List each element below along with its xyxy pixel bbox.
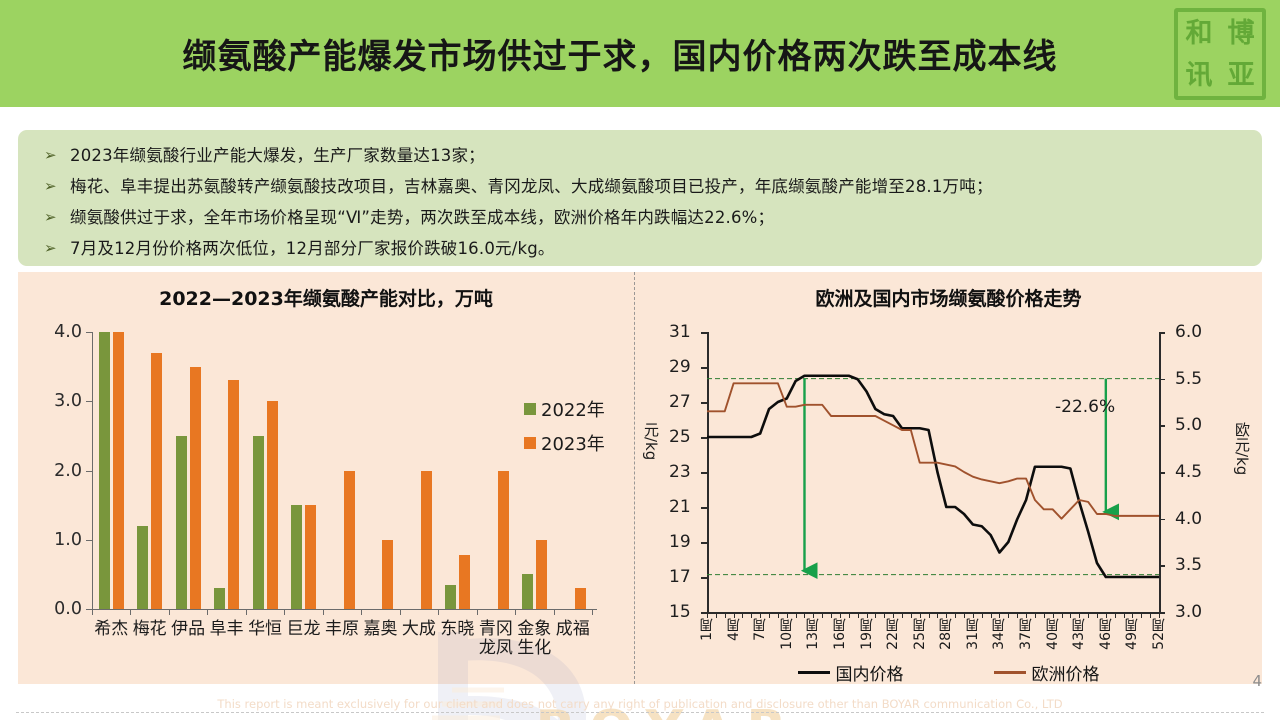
line-x-tick-mark	[1035, 613, 1036, 618]
line-right-tick-mark	[1159, 565, 1165, 567]
bar-2023	[267, 401, 278, 609]
bar-group	[361, 332, 399, 609]
bar-x-category-label: 伊品	[171, 620, 205, 639]
line-chart-plot-area	[707, 332, 1160, 613]
line-left-tick-mark	[701, 367, 707, 369]
line-left-tick-mark	[701, 437, 707, 439]
bar-2023	[305, 505, 316, 609]
line-x-tick-mark	[831, 613, 832, 618]
line-right-tick-label: 4.5	[1175, 462, 1202, 482]
bar-group	[130, 332, 168, 609]
line-x-tick-mark	[902, 613, 903, 618]
line-left-tick-label: 27	[669, 392, 691, 412]
bar-2023	[421, 471, 432, 610]
line-x-tick-label: 28周	[936, 618, 956, 650]
legend-label: 2022年	[541, 396, 605, 422]
bar-x-tick-mark	[207, 609, 208, 615]
bar-group	[438, 332, 476, 609]
bar-2022	[137, 526, 148, 609]
line-x-tick-mark	[804, 613, 805, 618]
legend-label: 2023年	[541, 430, 605, 456]
line-x-tick-mark	[725, 613, 726, 618]
bar-x-tick-mark	[400, 609, 401, 615]
bar-x-tick-mark	[92, 609, 93, 615]
bar-2023	[536, 540, 547, 609]
line-left-tick-mark	[701, 542, 707, 544]
list-item: ➢ 梅花、阜丰提出苏氨酸转产缬氨酸技改项目，吉林嘉奥、青冈龙凤、大成缬氨酸项目已…	[44, 171, 1244, 202]
line-left-tick-label: 25	[669, 427, 691, 447]
legend-line-europe	[994, 671, 1026, 674]
line-x-tick-mark	[937, 613, 938, 618]
line-x-tick-mark	[991, 613, 992, 618]
bullet-text: 7月及12月份价格两次低位，12月部分厂家报价跌破16.0元/kg。	[70, 233, 1244, 264]
line-x-tick-mark	[813, 613, 814, 618]
legend-swatch-2022	[524, 403, 536, 415]
bar-2023	[113, 332, 124, 609]
bar-2022	[522, 574, 533, 609]
list-item: ➢ 2023年缬氨酸行业产能大爆发，生产厂家数量达13家；	[44, 140, 1244, 171]
line-x-tick-mark	[716, 613, 717, 618]
line-x-tick-mark	[1079, 613, 1080, 618]
bar-x-tick-mark	[169, 609, 170, 615]
line-x-tick-mark	[796, 613, 797, 618]
line-x-tick-mark	[787, 613, 788, 618]
line-x-tick-mark	[964, 613, 965, 618]
footer-divider	[16, 712, 1264, 713]
line-x-tick-mark	[1026, 613, 1027, 618]
line-x-tick-mark	[1062, 613, 1063, 618]
line-x-tick-mark	[1044, 613, 1045, 618]
line-x-tick-mark	[707, 613, 708, 618]
line-x-tick-label: 19周	[857, 618, 877, 650]
line-right-tick-label: 6.0	[1175, 322, 1202, 342]
legend-label: 欧洲价格	[1032, 660, 1100, 685]
line-x-tick-mark	[751, 613, 752, 618]
summary-bullets-panel: ➢ 2023年缬氨酸行业产能大爆发，生产厂家数量达13家； ➢ 梅花、阜丰提出苏…	[18, 130, 1262, 266]
bar-group	[92, 332, 130, 609]
bar-2023	[575, 588, 586, 609]
line-x-tick-mark	[1017, 613, 1018, 618]
line-left-tick-mark	[701, 402, 707, 404]
list-item: ➢ 缬氨酸供过于求，全年市场价格呈现“Ⅵ”走势，两次跌至成本线，欧洲价格年内跌幅…	[44, 202, 1244, 233]
bar-2022	[214, 588, 225, 609]
bar-2023	[228, 380, 239, 609]
line-x-tick-mark	[1150, 613, 1151, 618]
chart-title: 欧洲及国内市场缬氨酸价格走势	[635, 284, 1262, 311]
right-axis-label: 欧元/kg	[1232, 422, 1253, 475]
charts-container: BOYAR 博亚和讯 2022—2023年缬氨酸产能对比，万吨 0.01.02.…	[18, 272, 1262, 684]
line-left-tick-mark	[701, 472, 707, 474]
seal-char-4: 亚	[1228, 62, 1255, 89]
bar-x-category-label: 华恒	[248, 620, 282, 639]
line-x-tick-label: 31周	[963, 618, 983, 650]
bar-2023	[344, 471, 355, 610]
bar-chart-legend: 2022年 2023年	[524, 392, 605, 460]
line-left-tick-mark	[701, 507, 707, 509]
bar-chart-x-axis	[92, 609, 597, 610]
bar-y-tick-label: 2.0	[54, 461, 82, 481]
line-x-tick-mark	[1008, 613, 1009, 618]
seal-char-3: 讯	[1186, 62, 1213, 89]
line-right-tick-mark	[1159, 472, 1165, 474]
line-left-tick-label: 29	[669, 357, 691, 377]
bar-x-category-label: 青冈龙凤	[479, 620, 513, 658]
bar-x-tick-mark	[554, 609, 555, 615]
bar-x-category-label: 巨龙	[287, 620, 321, 639]
bar-2022	[253, 436, 264, 609]
bar-x-category-label: 东晓	[440, 620, 474, 639]
bar-group	[169, 332, 207, 609]
slide: 缬氨酸产能爆发市场供过于求，国内价格两次跌至成本线 和 博 讯 亚 ➢ 2023…	[0, 0, 1280, 720]
line-x-tick-label: 34周	[989, 618, 1009, 650]
bar-group	[515, 332, 553, 609]
line-chart-legend: 国内价格 欧洲价格	[635, 660, 1262, 685]
bar-x-category-label: 金象生化	[517, 620, 551, 658]
line-right-tick-mark	[1159, 425, 1165, 427]
bar-x-tick-mark	[323, 609, 324, 615]
line-x-tick-mark	[973, 613, 974, 618]
line-x-tick-mark	[822, 613, 823, 618]
bullet-arrow-icon: ➢	[44, 202, 70, 233]
line-x-tick-mark	[999, 613, 1000, 618]
line-x-tick-mark	[893, 613, 894, 618]
line-x-tick-label: 7周	[750, 618, 770, 641]
bar-2022	[291, 505, 302, 609]
line-right-tick-mark	[1159, 379, 1165, 381]
line-left-tick-label: 23	[669, 462, 691, 482]
line-x-tick-mark	[1070, 613, 1071, 618]
bar-2022	[176, 436, 187, 609]
bar-x-tick-mark	[438, 609, 439, 615]
bar-2023	[151, 353, 162, 609]
bar-x-category-label: 丰原	[325, 620, 359, 639]
line-x-tick-label: 43周	[1069, 618, 1089, 650]
bullet-text: 梅花、阜丰提出苏氨酸转产缬氨酸技改项目，吉林嘉奥、青冈龙凤、大成缬氨酸项目已投产…	[70, 171, 1244, 202]
left-axis-label: 元/kg	[641, 422, 662, 460]
bar-y-tick-label: 0.0	[54, 599, 82, 619]
bar-x-tick-mark	[477, 609, 478, 615]
line-x-tick-label: 22周	[883, 618, 903, 650]
bar-2023	[498, 471, 509, 610]
bar-x-category-label: 成福	[556, 620, 590, 639]
line-right-tick-label: 5.0	[1175, 415, 1202, 435]
bar-x-category-label: 阜丰	[210, 620, 244, 639]
line-left-tick-label: 17	[669, 567, 691, 587]
line-x-tick-label: 46周	[1096, 618, 1116, 650]
bar-group	[284, 332, 322, 609]
line-x-tick-label: 40周	[1043, 618, 1063, 650]
bar-group	[207, 332, 245, 609]
line-x-tick-mark	[884, 613, 885, 618]
bar-chart-plot-area: 0.01.02.03.04.0	[92, 332, 592, 609]
line-x-tick-mark	[858, 613, 859, 618]
line-x-tick-mark	[1097, 613, 1098, 618]
line-x-tick-label: 13周	[803, 618, 823, 650]
disclaimer-text: This report is meant exclusively for our…	[0, 697, 1280, 711]
bar-x-tick-mark	[515, 609, 516, 615]
bar-group	[477, 332, 515, 609]
bullet-arrow-icon: ➢	[44, 140, 70, 171]
bar-y-tick-label: 3.0	[54, 391, 82, 411]
line-left-tick-mark	[701, 332, 707, 334]
line-x-tick-mark	[911, 613, 912, 618]
legend-item-2022: 2022年	[524, 392, 605, 426]
bar-x-category-label: 希杰	[94, 620, 128, 639]
line-x-tick-mark	[867, 613, 868, 618]
bar-x-tick-mark	[361, 609, 362, 615]
line-x-tick-mark	[760, 613, 761, 618]
line-x-tick-mark	[929, 613, 930, 618]
bullet-arrow-icon: ➢	[44, 171, 70, 202]
bar-x-category-label: 大成	[402, 620, 436, 639]
line-left-tick-label: 19	[669, 532, 691, 552]
legend-item-europe: 欧洲价格	[994, 660, 1100, 685]
line-x-tick-mark	[1106, 613, 1107, 618]
bar-group	[400, 332, 438, 609]
seal-char-1: 和	[1186, 20, 1213, 47]
line-x-tick-mark	[778, 613, 779, 618]
line-x-tick-mark	[1053, 613, 1054, 618]
chart-title: 2022—2023年缬氨酸产能对比，万吨	[18, 284, 634, 311]
line-x-tick-mark	[849, 613, 850, 618]
bar-x-category-label: 嘉奥	[363, 620, 397, 639]
page-title: 缬氨酸产能爆发市场供过于求，国内价格两次跌至成本线	[0, 0, 1280, 107]
price-trend-line-chart: 欧洲及国内市场缬氨酸价格走势 元/kg 欧元/kg -22.6% 国内价格 欧洲…	[635, 272, 1262, 684]
line-right-tick-mark	[1159, 332, 1165, 334]
page-number: 4	[1252, 672, 1262, 690]
line-x-tick-mark	[1132, 613, 1133, 618]
line-x-tick-mark	[734, 613, 735, 618]
line-x-tick-mark	[982, 613, 983, 618]
line-x-tick-mark	[1088, 613, 1089, 618]
bar-2022	[445, 585, 456, 609]
line-right-tick-label: 4.0	[1175, 509, 1202, 529]
line-right-tick-label: 3.0	[1175, 602, 1202, 622]
line-left-tick-label: 15	[669, 602, 691, 622]
drop-annotation: -22.6%	[1055, 397, 1115, 417]
line-x-tick-mark	[1115, 613, 1116, 618]
slide-header: 缬氨酸产能爆发市场供过于求，国内价格两次跌至成本线 和 博 讯 亚	[0, 0, 1280, 107]
legend-item-2023: 2023年	[524, 426, 605, 460]
list-item: ➢ 7月及12月份价格两次低位，12月部分厂家报价跌破16.0元/kg。	[44, 233, 1244, 264]
legend-line-domestic	[798, 671, 830, 674]
line-x-tick-mark	[1159, 613, 1160, 618]
bullet-text: 缬氨酸供过于求，全年市场价格呈现“Ⅵ”走势，两次跌至成本线，欧洲价格年内跌幅达2…	[70, 202, 1244, 233]
bar-x-tick-mark	[284, 609, 285, 615]
line-x-tick-label: 1周	[697, 618, 717, 641]
bar-group	[246, 332, 284, 609]
line-x-tick-mark	[769, 613, 770, 618]
line-x-tick-mark	[840, 613, 841, 618]
legend-item-domestic: 国内价格	[798, 660, 904, 685]
bar-group	[323, 332, 361, 609]
line-x-tick-label: 49周	[1122, 618, 1142, 650]
line-x-tick-mark	[1124, 613, 1125, 618]
line-right-tick-label: 3.5	[1175, 555, 1202, 575]
line-x-tick-mark	[875, 613, 876, 618]
bullet-text: 2023年缬氨酸行业产能大爆发，生产厂家数量达13家；	[70, 140, 1244, 171]
line-x-tick-label: 25周	[910, 618, 930, 650]
seal-char-2: 博	[1228, 20, 1255, 47]
line-x-tick-label: 37周	[1016, 618, 1036, 650]
line-x-tick-label: 16周	[830, 618, 850, 650]
bar-2023	[459, 555, 470, 609]
line-left-tick-mark	[701, 577, 707, 579]
bullet-arrow-icon: ➢	[44, 233, 70, 264]
bar-2023	[382, 540, 393, 609]
bar-2023	[190, 367, 201, 609]
legend-swatch-2023	[524, 437, 536, 449]
line-left-tick-label: 31	[669, 322, 691, 342]
legend-label: 国内价格	[836, 660, 904, 685]
line-left-tick-label: 21	[669, 497, 691, 517]
line-x-tick-label: 10周	[777, 618, 797, 650]
capacity-bar-chart: 2022—2023年缬氨酸产能对比，万吨 0.01.02.03.04.0 202…	[18, 272, 634, 684]
bar-x-tick-mark	[592, 609, 593, 615]
bar-y-tick-label: 1.0	[54, 530, 82, 550]
bar-2022	[99, 332, 110, 609]
line-x-tick-mark	[946, 613, 947, 618]
bar-x-tick-mark	[246, 609, 247, 615]
line-x-tick-mark	[742, 613, 743, 618]
bar-y-tick-label: 4.0	[54, 322, 82, 342]
line-x-tick-label: 4周	[724, 618, 744, 641]
line-x-tick-mark	[1141, 613, 1142, 618]
line-x-tick-label: 52周	[1149, 618, 1169, 650]
bar-x-tick-mark	[130, 609, 131, 615]
bar-x-category-label: 梅花	[133, 620, 167, 639]
line-x-tick-mark	[920, 613, 921, 618]
line-x-tick-mark	[955, 613, 956, 618]
boyar-seal-logo: 和 博 讯 亚	[1174, 8, 1266, 100]
line-right-tick-label: 5.5	[1175, 369, 1202, 389]
bar-group	[554, 332, 592, 609]
line-right-tick-mark	[1159, 519, 1165, 521]
